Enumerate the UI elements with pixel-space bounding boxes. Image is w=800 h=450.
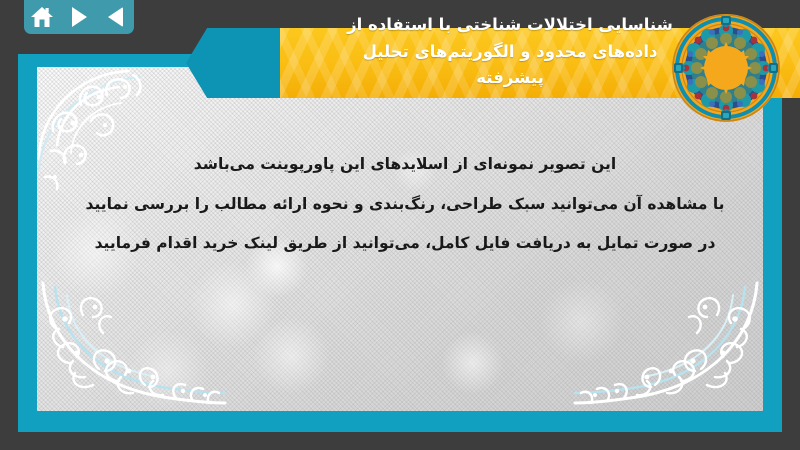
prev-slide-button[interactable]: [103, 4, 129, 30]
slide-content-frame: این تصویر نمونه‌ای از اسلایدهای این پاور…: [18, 54, 782, 432]
next-slide-button[interactable]: [66, 4, 92, 30]
slide-content-surface: این تصویر نمونه‌ای از اسلایدهای این پاور…: [37, 67, 763, 411]
body-line-2: با مشاهده آن می‌توانید سبک طراحی، رنگ‌بن…: [77, 185, 733, 225]
home-button[interactable]: [29, 4, 55, 30]
arabesque-corner-ornament-bottom-right: [573, 281, 763, 411]
persian-medallion-ornament: [670, 12, 782, 124]
triangle-right-icon: [72, 7, 87, 27]
title-line-1: شناسایی اختلالات شناختی با استفاده از: [347, 12, 673, 39]
slide-navigation-bar[interactable]: [24, 0, 134, 34]
body-line-1: این تصویر نمونه‌ای از اسلایدهای این پاور…: [77, 145, 733, 185]
arabesque-corner-ornament-bottom-left: [37, 281, 227, 411]
slide-body-text: این تصویر نمونه‌ای از اسلایدهای این پاور…: [77, 145, 733, 264]
body-line-3: در صورت تمایل به دریافت فایل کامل، می‌تو…: [77, 224, 733, 264]
slide-canvas: این تصویر نمونه‌ای از اسلایدهای این پاور…: [0, 0, 800, 450]
home-icon: [30, 6, 54, 28]
triangle-left-icon: [108, 7, 123, 27]
